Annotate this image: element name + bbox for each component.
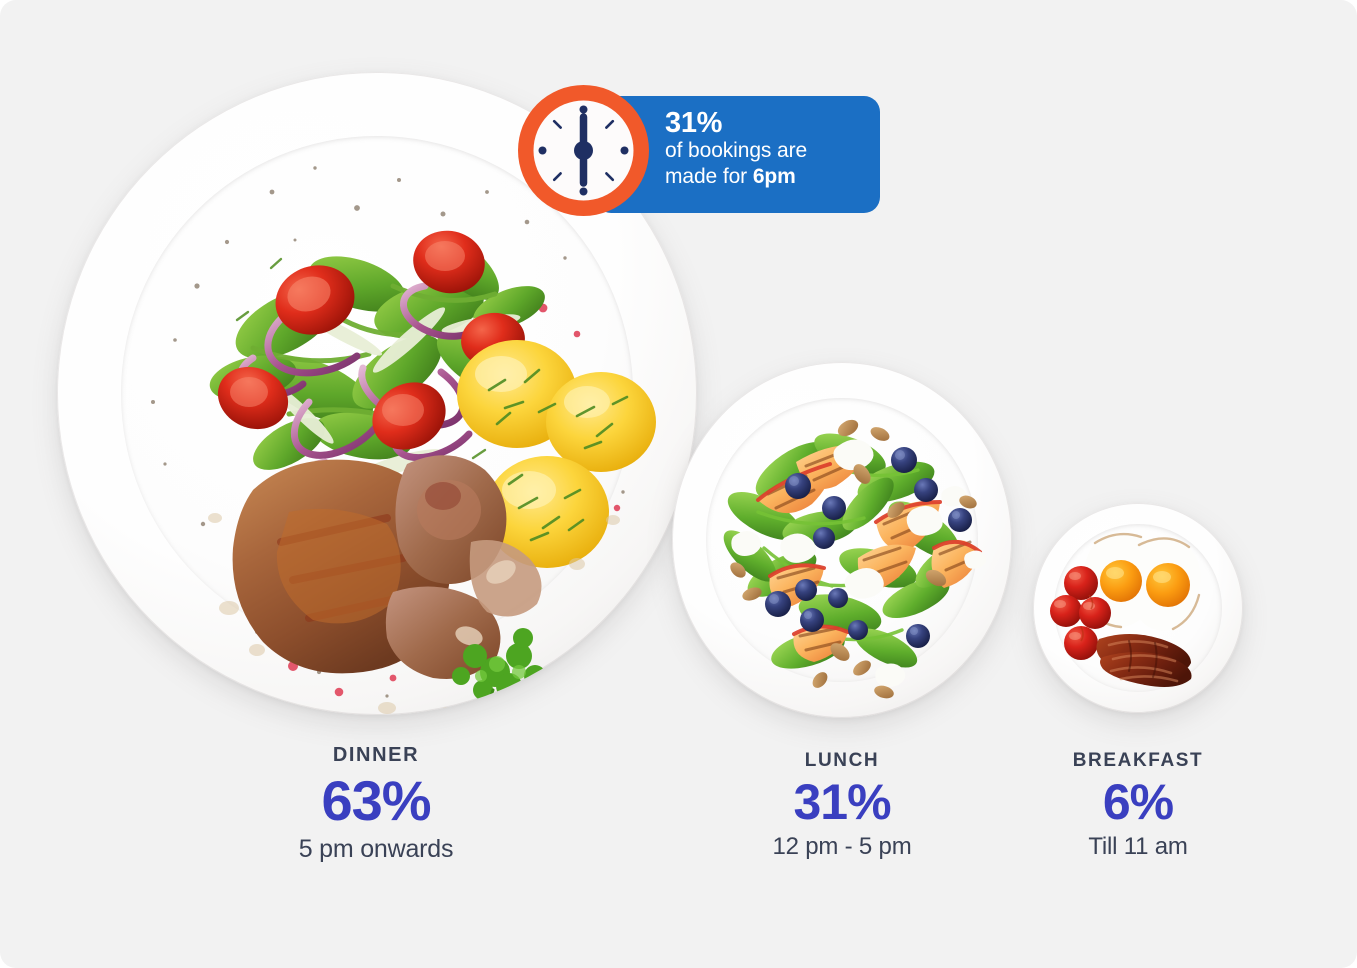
clock-icon [518, 85, 649, 216]
caption-lunch: LUNCH 31% 12 pm - 5 pm [662, 750, 1022, 861]
badge-line-1: of bookings are [665, 138, 862, 164]
meal-name-breakfast: BREAKFAST [1008, 750, 1268, 772]
badge-line-2: made for 6pm [665, 164, 862, 190]
badge-line-2-prefix: made for [665, 165, 753, 188]
meal-name-dinner: DINNER [136, 744, 616, 767]
badge-percent: 31% [665, 108, 862, 138]
meal-percent-breakfast: 6% [1008, 772, 1268, 833]
meal-time-dinner: 5 pm onwards [136, 835, 616, 864]
meal-percent-lunch: 31% [662, 772, 1022, 833]
food-lunch [672, 362, 1012, 718]
plate-breakfast [1033, 503, 1243, 713]
food-breakfast [1033, 503, 1243, 713]
meal-time-lunch: 12 pm - 5 pm [662, 833, 1022, 861]
clock-badge: 31% of bookings are made for 6pm [518, 85, 880, 216]
badge-line-2-time: 6pm [753, 165, 796, 188]
meal-time-breakfast: Till 11 am [1008, 833, 1268, 861]
meal-percent-dinner: 63% [136, 767, 616, 835]
meal-name-lunch: LUNCH [662, 750, 1022, 772]
infographic-canvas: 31% of bookings are made for 6pm [0, 0, 1357, 968]
plate-lunch [672, 362, 1012, 718]
caption-dinner: DINNER 63% 5 pm onwards [136, 744, 616, 864]
caption-breakfast: BREAKFAST 6% Till 11 am [1008, 750, 1268, 861]
